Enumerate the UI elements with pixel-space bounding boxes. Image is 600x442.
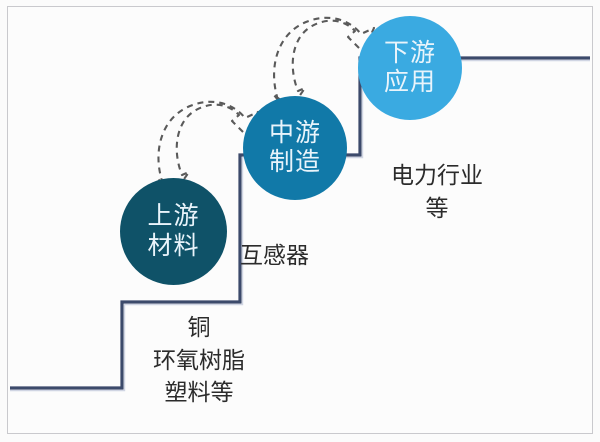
node-downstream[interactable]: 下游 应用 [358,16,462,120]
node-downstream-line2: 应用 [384,68,436,98]
node-midstream[interactable]: 中游 制造 [243,96,347,200]
node-midstream-line1: 中游 [269,119,321,149]
node-midstream-line2: 制造 [269,148,321,178]
node-upstream-line2: 材料 [147,232,199,262]
label-upstream-materials: 铜 环氧树脂 塑料等 [106,312,292,410]
node-downstream-line1: 下游 [384,39,436,69]
label-downstream-application: 电力行业 等 [362,160,512,225]
node-upstream-line1: 上游 [147,202,199,232]
label-midstream-product: 互感器 [240,240,390,273]
node-upstream[interactable]: 上游 材料 [120,178,227,285]
diagram-canvas: 上游 材料 中游 制造 下游 应用 铜 环氧树脂 塑料等 互感器 电力行业 等 [0,0,600,442]
